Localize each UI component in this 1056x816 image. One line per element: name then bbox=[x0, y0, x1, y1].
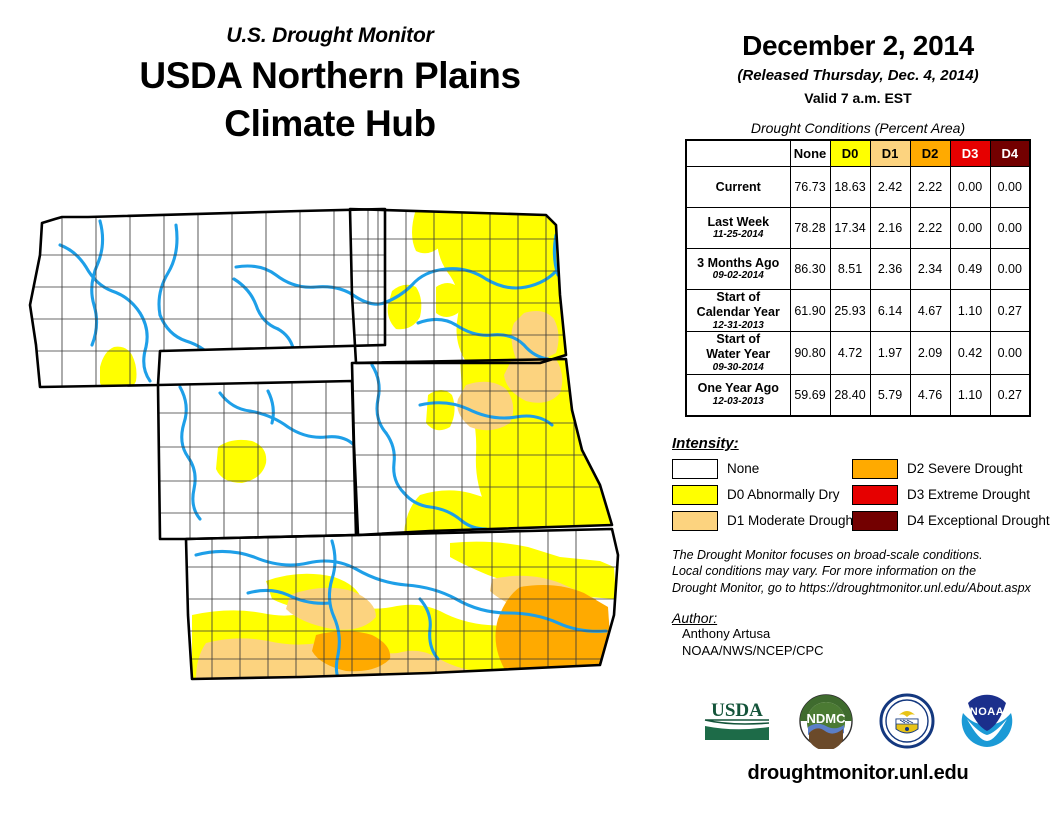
cell-d3: 0.49 bbox=[950, 249, 990, 290]
cell-d4: 0.27 bbox=[990, 290, 1030, 332]
cell-d4: 0.00 bbox=[990, 249, 1030, 290]
author-name: Anthony Artusa bbox=[682, 626, 1056, 643]
svg-text:NDMC: NDMC bbox=[807, 711, 847, 726]
cell-d1: 5.79 bbox=[870, 374, 910, 416]
title-block: U.S. Drought Monitor USDA Northern Plain… bbox=[0, 24, 660, 147]
table-row: Current76.7318.632.422.220.000.00 bbox=[686, 167, 1030, 208]
disclaimer-line-3: Drought Monitor, go to https://droughtmo… bbox=[672, 580, 1056, 597]
right-panel: December 2, 2014 (Released Thursday, Dec… bbox=[660, 0, 1056, 816]
table-row: Start ofCalendar Year12-31-201361.9025.9… bbox=[686, 290, 1030, 332]
page-title-line2: Climate Hub bbox=[0, 100, 660, 147]
col-header-d1: D1 bbox=[870, 140, 910, 167]
cell-none: 90.80 bbox=[790, 332, 830, 374]
cell-none: 86.30 bbox=[790, 249, 830, 290]
legend-label: D1 Moderate Drought bbox=[727, 513, 857, 528]
cell-d3: 0.00 bbox=[950, 167, 990, 208]
valid-date: December 2, 2014 bbox=[660, 30, 1056, 62]
cell-d3: 1.10 bbox=[950, 374, 990, 416]
legend-label: D4 Exceptional Drought bbox=[907, 513, 1050, 528]
cell-d2: 2.22 bbox=[910, 208, 950, 249]
col-header-d3: D3 bbox=[950, 140, 990, 167]
legend-item: D2 Severe Drought bbox=[852, 459, 1042, 479]
svg-text:NOAA: NOAA bbox=[970, 706, 1004, 718]
author-heading: Author: bbox=[672, 610, 1056, 626]
row-date: 12-03-2013 bbox=[687, 396, 790, 408]
cell-d4: 0.00 bbox=[990, 167, 1030, 208]
legend-label: D0 Abnormally Dry bbox=[727, 487, 840, 502]
cell-d0: 25.93 bbox=[830, 290, 870, 332]
legend-title: Intensity: bbox=[672, 435, 1056, 452]
cell-d2: 4.76 bbox=[910, 374, 950, 416]
author-affiliation: NOAA/NWS/NCEP/CPC bbox=[682, 643, 1056, 660]
ndmc-logo: NDMC bbox=[797, 693, 855, 749]
cell-d4: 0.00 bbox=[990, 332, 1030, 374]
cell-d0: 8.51 bbox=[830, 249, 870, 290]
legend-item: D1 Moderate Drought bbox=[672, 511, 852, 531]
table-row: Last Week11-25-201478.2817.342.162.220.0… bbox=[686, 208, 1030, 249]
row-label: Start ofCalendar Year12-31-2013 bbox=[686, 290, 790, 332]
site-url[interactable]: droughtmonitor.unl.edu bbox=[660, 762, 1056, 785]
table-caption: Drought Conditions (Percent Area) bbox=[660, 120, 1056, 136]
row-date: 09-30-2014 bbox=[687, 362, 790, 374]
cell-d4: 0.27 bbox=[990, 374, 1030, 416]
row-label: Start ofWater Year09-30-2014 bbox=[686, 332, 790, 374]
drought-conditions-table: None D0 D1 D2 D3 D4 Current76.7318.632.4… bbox=[685, 139, 1031, 417]
date-block: December 2, 2014 (Released Thursday, Dec… bbox=[660, 0, 1056, 106]
cell-d0: 28.40 bbox=[830, 374, 870, 416]
released-date: (Released Thursday, Dec. 4, 2014) bbox=[660, 67, 1056, 84]
cell-d1: 6.14 bbox=[870, 290, 910, 332]
cell-none: 78.28 bbox=[790, 208, 830, 249]
legend-item: D4 Exceptional Drought bbox=[852, 511, 1042, 531]
legend-swatch bbox=[852, 459, 898, 479]
nws-seal-logo bbox=[879, 693, 935, 749]
table-row: Start ofWater Year09-30-201490.804.721.9… bbox=[686, 332, 1030, 374]
cell-d2: 4.67 bbox=[910, 290, 950, 332]
table-row: 3 Months Ago09-02-201486.308.512.362.340… bbox=[686, 249, 1030, 290]
page-title-line1: USDA Northern Plains bbox=[0, 52, 660, 99]
col-header-d4: D4 bbox=[990, 140, 1030, 167]
cell-d0: 4.72 bbox=[830, 332, 870, 374]
row-date: 12-31-2013 bbox=[687, 320, 790, 332]
legend-swatch bbox=[672, 511, 718, 531]
cell-none: 76.73 bbox=[790, 167, 830, 208]
disclaimer-line-1: The Drought Monitor focuses on broad-sca… bbox=[672, 547, 1056, 564]
cell-d3: 0.42 bbox=[950, 332, 990, 374]
legend-label: D2 Severe Drought bbox=[907, 461, 1023, 476]
disclaimer: The Drought Monitor focuses on broad-sca… bbox=[672, 547, 1056, 597]
logo-row: USDA NDMC bbox=[660, 690, 1056, 752]
valid-time: Valid 7 a.m. EST bbox=[660, 90, 1056, 106]
svg-text:USDA: USDA bbox=[711, 700, 763, 721]
legend-label: D3 Extreme Drought bbox=[907, 487, 1030, 502]
legend-swatch bbox=[852, 485, 898, 505]
noaa-logo: NOAA bbox=[959, 693, 1015, 749]
cell-d3: 1.10 bbox=[950, 290, 990, 332]
cell-d1: 1.97 bbox=[870, 332, 910, 374]
legend-label: None bbox=[727, 461, 759, 476]
row-date: 09-02-2014 bbox=[687, 270, 790, 282]
row-label: Current bbox=[686, 167, 790, 208]
legend: Intensity: NoneD2 Severe DroughtD0 Abnor… bbox=[672, 435, 1056, 531]
row-date: 11-25-2014 bbox=[687, 229, 790, 241]
table-row: One Year Ago12-03-201359.6928.405.794.76… bbox=[686, 374, 1030, 416]
drought-map-svg bbox=[0, 195, 664, 735]
col-header-d0: D0 bbox=[830, 140, 870, 167]
disclaimer-line-2: Local conditions may vary. For more info… bbox=[672, 563, 1056, 580]
cell-d2: 2.34 bbox=[910, 249, 950, 290]
legend-item: D3 Extreme Drought bbox=[852, 485, 1042, 505]
page-title: USDA Northern Plains Climate Hub bbox=[0, 52, 660, 147]
row-label: One Year Ago12-03-2013 bbox=[686, 374, 790, 416]
legend-swatch bbox=[672, 485, 718, 505]
legend-item: None bbox=[672, 459, 852, 479]
legend-swatch bbox=[672, 459, 718, 479]
cell-none: 59.69 bbox=[790, 374, 830, 416]
usda-logo: USDA bbox=[701, 696, 773, 746]
row-label: 3 Months Ago09-02-2014 bbox=[686, 249, 790, 290]
table-corner-cell bbox=[686, 140, 790, 167]
legend-grid: NoneD2 Severe DroughtD0 Abnormally DryD3… bbox=[672, 459, 1056, 531]
cell-d4: 0.00 bbox=[990, 208, 1030, 249]
cell-d1: 2.42 bbox=[870, 167, 910, 208]
col-header-d2: D2 bbox=[910, 140, 950, 167]
cell-d0: 17.34 bbox=[830, 208, 870, 249]
cell-d2: 2.09 bbox=[910, 332, 950, 374]
map-container bbox=[0, 195, 664, 735]
legend-swatch bbox=[852, 511, 898, 531]
drought-monitor-page: U.S. Drought Monitor USDA Northern Plain… bbox=[0, 0, 1056, 816]
drought-monitor-supertitle: U.S. Drought Monitor bbox=[0, 24, 660, 48]
cell-d0: 18.63 bbox=[830, 167, 870, 208]
cell-d3: 0.00 bbox=[950, 208, 990, 249]
legend-item: D0 Abnormally Dry bbox=[672, 485, 852, 505]
cell-d2: 2.22 bbox=[910, 167, 950, 208]
cell-d1: 2.16 bbox=[870, 208, 910, 249]
row-label: Last Week11-25-2014 bbox=[686, 208, 790, 249]
col-header-none: None bbox=[790, 140, 830, 167]
table-header-row: None D0 D1 D2 D3 D4 bbox=[686, 140, 1030, 167]
cell-none: 61.90 bbox=[790, 290, 830, 332]
cell-d1: 2.36 bbox=[870, 249, 910, 290]
